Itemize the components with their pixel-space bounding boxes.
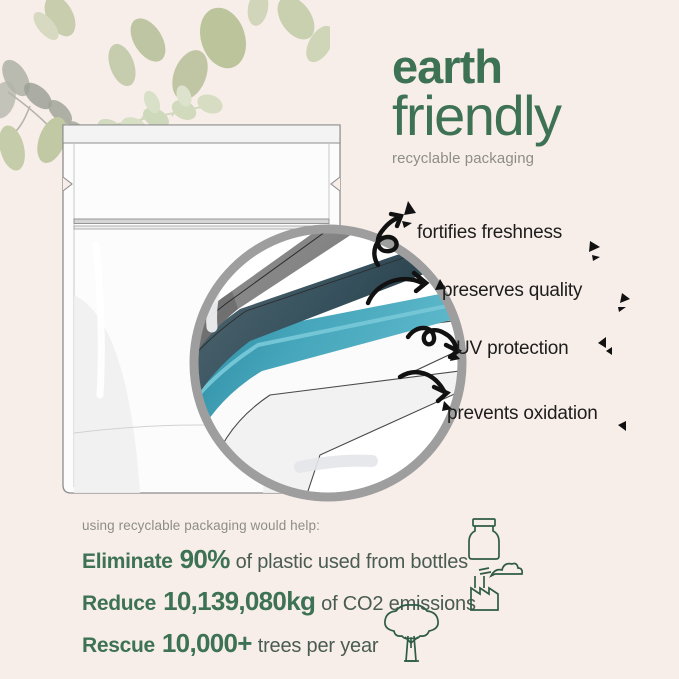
stat-icons-group: [455, 512, 545, 617]
stat-verb: Reduce: [82, 592, 156, 616]
stat-verb: Eliminate: [82, 550, 173, 574]
feature-label-fortifies-freshness: fortifies freshness: [417, 222, 562, 244]
feature-label-uv-protection: UV protection: [456, 338, 569, 360]
feature-label-preserves-quality: preserves quality: [442, 280, 582, 302]
stat-rest: of plastic used from bottles: [236, 551, 468, 574]
stat-verb: Rescue: [82, 634, 155, 658]
stat-value: 10,139,080kg: [163, 586, 315, 617]
jar-icon: [469, 519, 499, 559]
feature-label-prevents-oxidation: prevents oxidation: [447, 403, 598, 425]
headline-line-1: earth: [392, 44, 672, 89]
pouch-artwork: [0, 95, 470, 515]
stat-value: 90%: [180, 544, 230, 575]
factory-icon: [471, 564, 522, 611]
stat-value: 10,000+: [162, 628, 252, 659]
stat-row: Rescue 10,000+ trees per year: [82, 628, 602, 659]
stat-rest: trees per year: [258, 635, 379, 658]
tree-icon: [372, 603, 450, 665]
infographic-canvas: earth friendly recyclable packaging: [0, 0, 679, 679]
